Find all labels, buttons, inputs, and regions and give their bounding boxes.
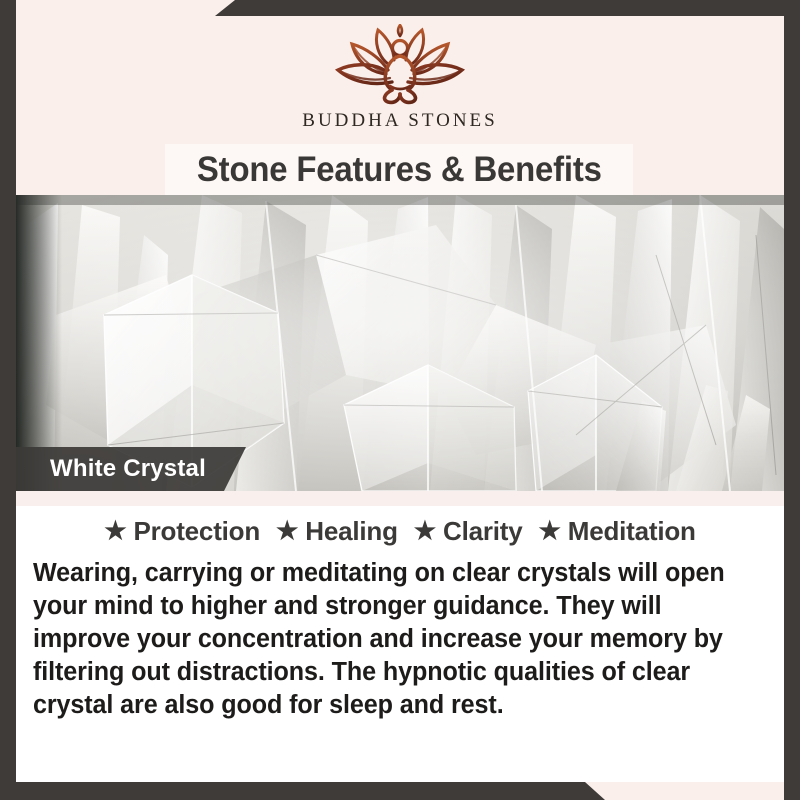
benefit-item-healing: ★ Healing	[276, 516, 398, 547]
star-icon: ★	[276, 519, 298, 544]
right-frame-bar	[784, 0, 800, 800]
stone-info-card: BUDDHA STONES Stone Features & Benefits	[0, 0, 800, 800]
crystal-photo-graphic	[16, 195, 784, 491]
benefit-label: Meditation	[568, 516, 696, 547]
top-right-corner-wedge	[215, 0, 800, 16]
star-icon: ★	[104, 519, 126, 544]
star-icon: ★	[414, 519, 436, 544]
description-text: Wearing, carrying or meditating on clear…	[33, 557, 762, 722]
benefit-item-protection: ★ Protection	[104, 516, 260, 547]
page-title: Stone Features & Benefits	[197, 150, 602, 190]
card-header: BUDDHA STONES Stone Features & Benefits	[16, 16, 784, 195]
title-banner: Stone Features & Benefits	[165, 144, 633, 195]
bottom-left-corner-wedge	[0, 782, 605, 800]
white-crystal-cluster-photo	[16, 195, 784, 491]
stone-name-label: White Crystal	[50, 455, 206, 483]
benefit-item-meditation: ★ Meditation	[539, 516, 696, 547]
brand-logo	[16, 24, 784, 111]
brand-name: BUDDHA STONES	[16, 110, 784, 132]
benefits-row: ★ Protection ★ Healing ★ Clarity ★ Medit…	[16, 516, 784, 547]
left-frame-bar	[0, 0, 16, 800]
content-panel: ★ Protection ★ Healing ★ Clarity ★ Medit…	[16, 506, 784, 782]
benefit-item-clarity: ★ Clarity	[414, 516, 523, 547]
lotus-meditation-figure-icon	[324, 24, 476, 106]
benefit-label: Clarity	[443, 516, 523, 547]
stone-name-tag: White Crystal	[16, 447, 246, 491]
star-icon: ★	[539, 519, 561, 544]
benefit-label: Protection	[133, 516, 260, 547]
benefit-label: Healing	[305, 516, 398, 547]
photo-underline-strip	[16, 491, 784, 506]
